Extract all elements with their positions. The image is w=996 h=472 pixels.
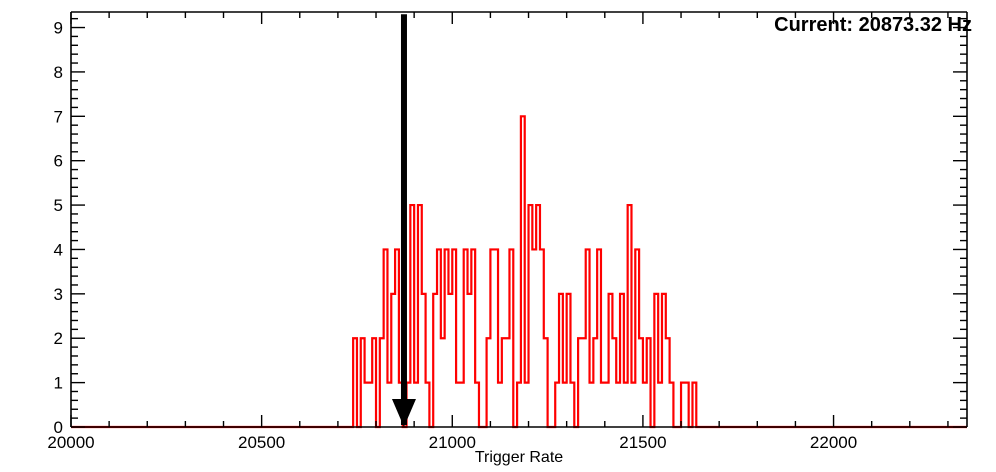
x-tick-label: 21500 [619,433,666,452]
x-tick-label: 22000 [810,433,857,452]
trigger-rate-histogram: 2000020500210002150022000 0123456789 Tri… [0,0,996,472]
y-tick-label: 3 [54,285,63,304]
x-tick-label: 21000 [429,433,476,452]
y-tick-label: 8 [54,63,63,82]
x-tick-label: 20500 [238,433,285,452]
y-tick-label: 7 [54,107,63,126]
y-tick-label: 0 [54,418,63,437]
y-tick-label: 6 [54,152,63,171]
y-tick-label: 9 [54,19,63,38]
y-tick-label: 2 [54,329,63,348]
y-tick-label: 4 [54,240,63,259]
x-axis-title: Trigger Rate [475,449,563,466]
root-canvas-plot: 2000020500210002150022000 0123456789 Tri… [0,0,996,472]
y-tick-label: 1 [54,374,63,393]
current-rate-readout: Current: 20873.32 Hz [774,14,972,37]
y-tick-label: 5 [54,196,63,215]
canvas-background [0,0,996,472]
